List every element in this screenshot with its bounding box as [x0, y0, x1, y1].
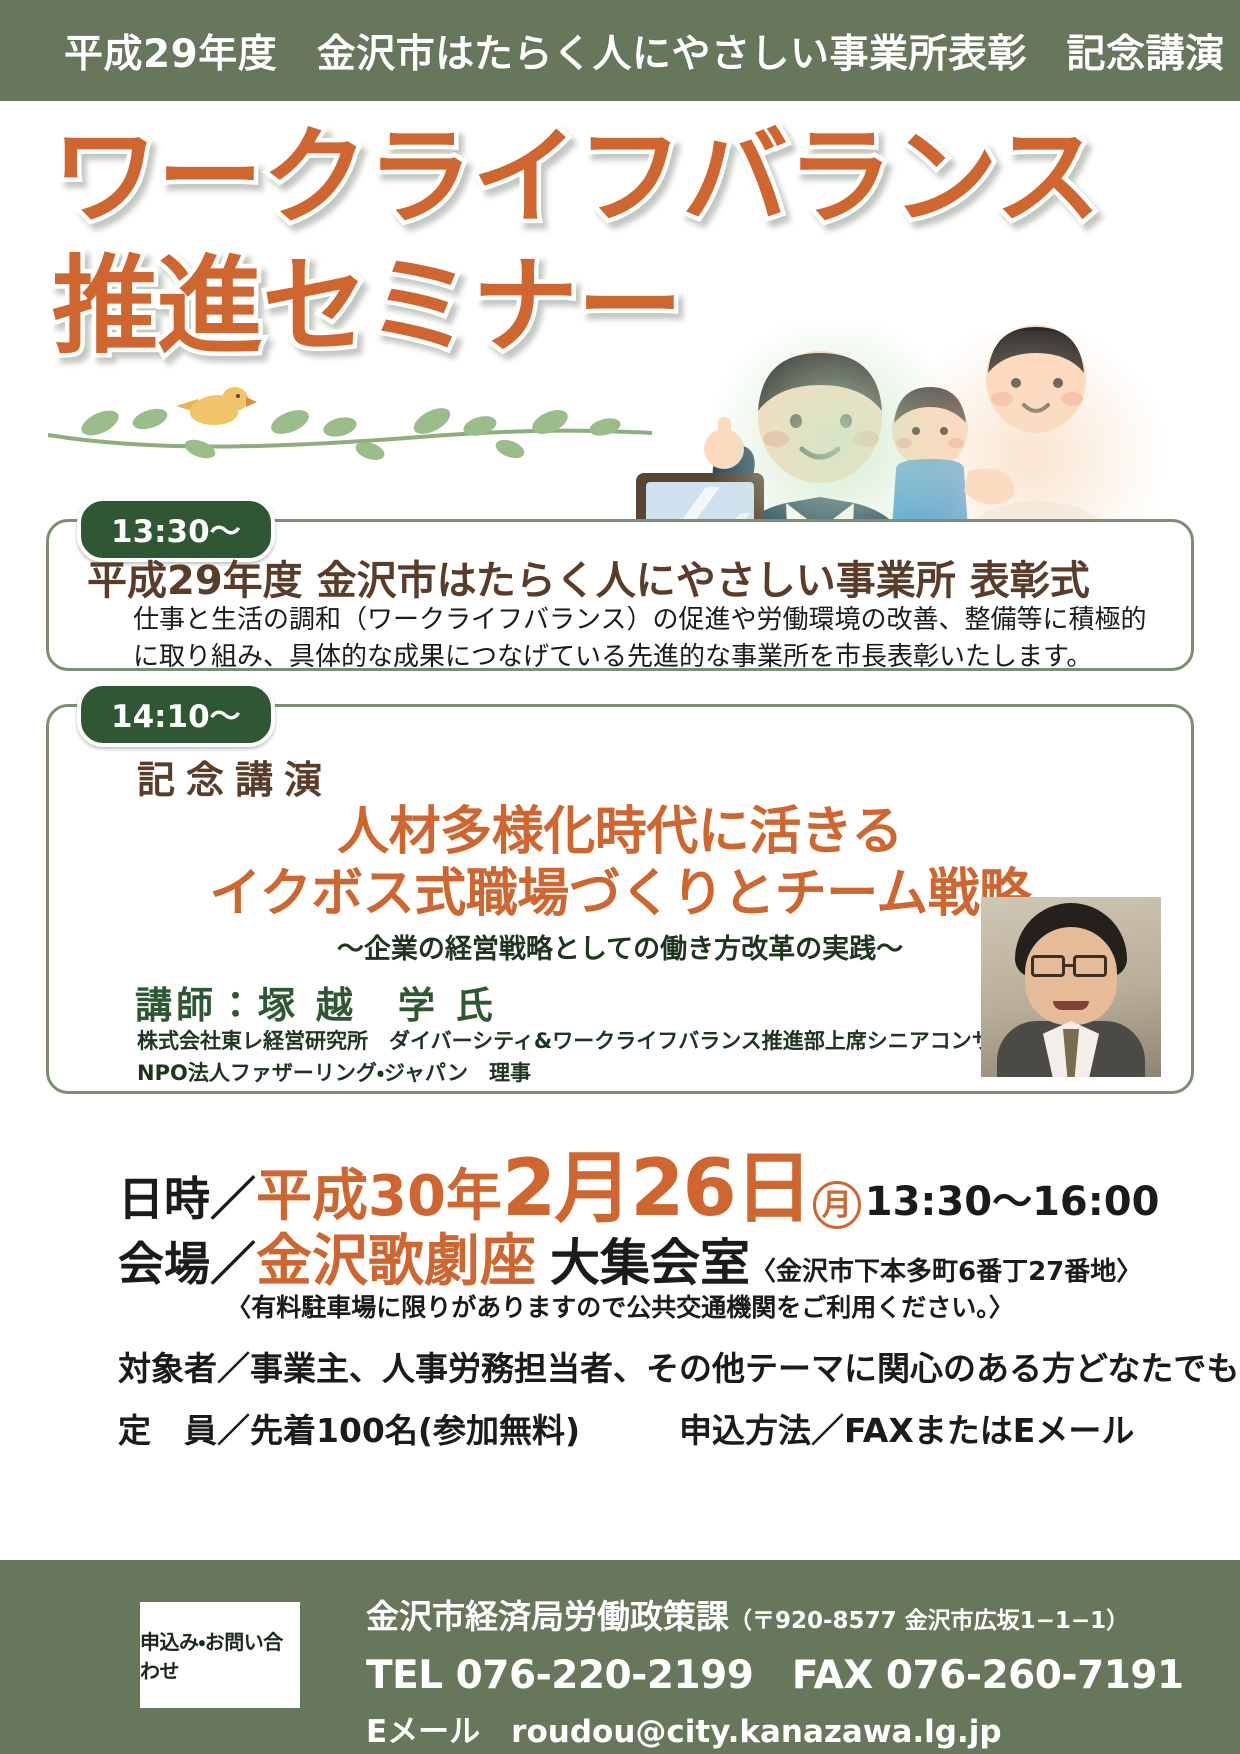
contact-tel-fax: TEL 076-220-2199 FAX 076-260-7191 — [366, 1644, 1184, 1700]
venue-name: 金沢歌劇座 — [256, 1216, 536, 1297]
poster-root: 平成29年度 金沢市はたらく人にやさしい事業所表彰 記念講演 ワークライフバラン… — [0, 0, 1240, 1754]
header-banner-text: 平成29年度 金沢市はたらく人にやさしい事業所表彰 記念講演 — [0, 23, 1225, 79]
award-ceremony-body: 仕事と生活の調和（ワークライフバランス）の促進や労働環境の改善、整備等に積極的に… — [133, 602, 1153, 676]
venue-row: 会場／ 金沢歌劇座 大集会室 〈金沢市下本多町6番丁27番地〉 — [118, 1216, 1142, 1297]
contact-email: Eメール roudou@city.kanazawa.lg.jp — [366, 1706, 1184, 1751]
footer-contact: 申込み・お問い合わせ 金沢市経済局労働政策課（〒920-8577 金沢市広坂1−… — [0, 1560, 1240, 1754]
photo-glasses-right — [1073, 955, 1107, 977]
award-ceremony-heading: 平成29年度 金沢市はたらく人にやさしい事業所 表彰式 — [87, 548, 1090, 606]
lecturer-credential-1: 株式会社東レ経営研究所 ダイバーシティ&ワークライフバランス推進部上席シニアコン… — [137, 1025, 1077, 1055]
venue-label: 会場／ — [118, 1228, 256, 1294]
poster-title-line1: ワークライフバランス — [52, 116, 1100, 239]
bird-head-icon — [222, 387, 248, 411]
capacity-and-apply: 定 員／先着100名(参加無料) 申込方法／FAXまたはEメール — [118, 1404, 1134, 1452]
lecture-kicker: 記念講演 — [137, 749, 333, 804]
photo-glasses-left — [1031, 955, 1065, 977]
time-badge-2: 14:10〜 — [77, 682, 275, 747]
lecturer-name: 講師：塚 越 学 氏 — [135, 975, 497, 1029]
lecturer-credential-2: NPO法人ファザーリング・ジャパン 理事 — [137, 1057, 531, 1087]
photo-smile — [1053, 1001, 1089, 1010]
venue-room: 大集会室 — [536, 1223, 750, 1295]
contact-box-label: 申込み・お問い合わせ — [140, 1626, 300, 1684]
schedule-card-1: 13:30〜 平成29年度 金沢市はたらく人にやさしい事業所 表彰式 仕事と生活… — [46, 519, 1194, 671]
contact-box: 申込み・お問い合わせ — [140, 1602, 300, 1708]
lecture-title-line1: 人材多様化時代に活きる — [337, 802, 902, 862]
photo-glasses-bridge — [1065, 964, 1073, 967]
lecturer-photo — [981, 897, 1161, 1077]
hero-section: ワークライフバランス 推進セミナー — [0, 101, 1240, 501]
contact-org-line: 金沢市経済局労働政策課（〒920-8577 金沢市広坂1−1−1） — [366, 1590, 1184, 1638]
schedule-card-2: 14:10〜 記念講演 人材多様化時代に活きる イクボス式職場づくりとチーム戦略… — [46, 704, 1194, 1094]
contact-org: 金沢市経済局労働政策課 — [366, 1597, 729, 1636]
venue-parking-note: 〈有料駐車場に限りがありますので公共交通機関をご利用ください。〉 — [0, 1288, 1240, 1324]
bird-eye-icon — [236, 394, 240, 398]
venue-address: 〈金沢市下本多町6番丁27番地〉 — [750, 1251, 1142, 1288]
contact-zip: （〒920-8577 金沢市広坂1−1−1） — [729, 1608, 1129, 1634]
target-audience: 対象者／事業主、人事労務担当者、その他テーマに関心のある方どなたでも — [118, 1342, 1239, 1390]
contact-details: 金沢市経済局労働政策課（〒920-8577 金沢市広坂1−1−1） TEL 07… — [366, 1590, 1184, 1751]
header-banner: 平成29年度 金沢市はたらく人にやさしい事業所表彰 記念講演 — [0, 0, 1240, 101]
bird-beak-icon — [246, 397, 257, 407]
vine-decoration-icon — [40, 389, 660, 469]
